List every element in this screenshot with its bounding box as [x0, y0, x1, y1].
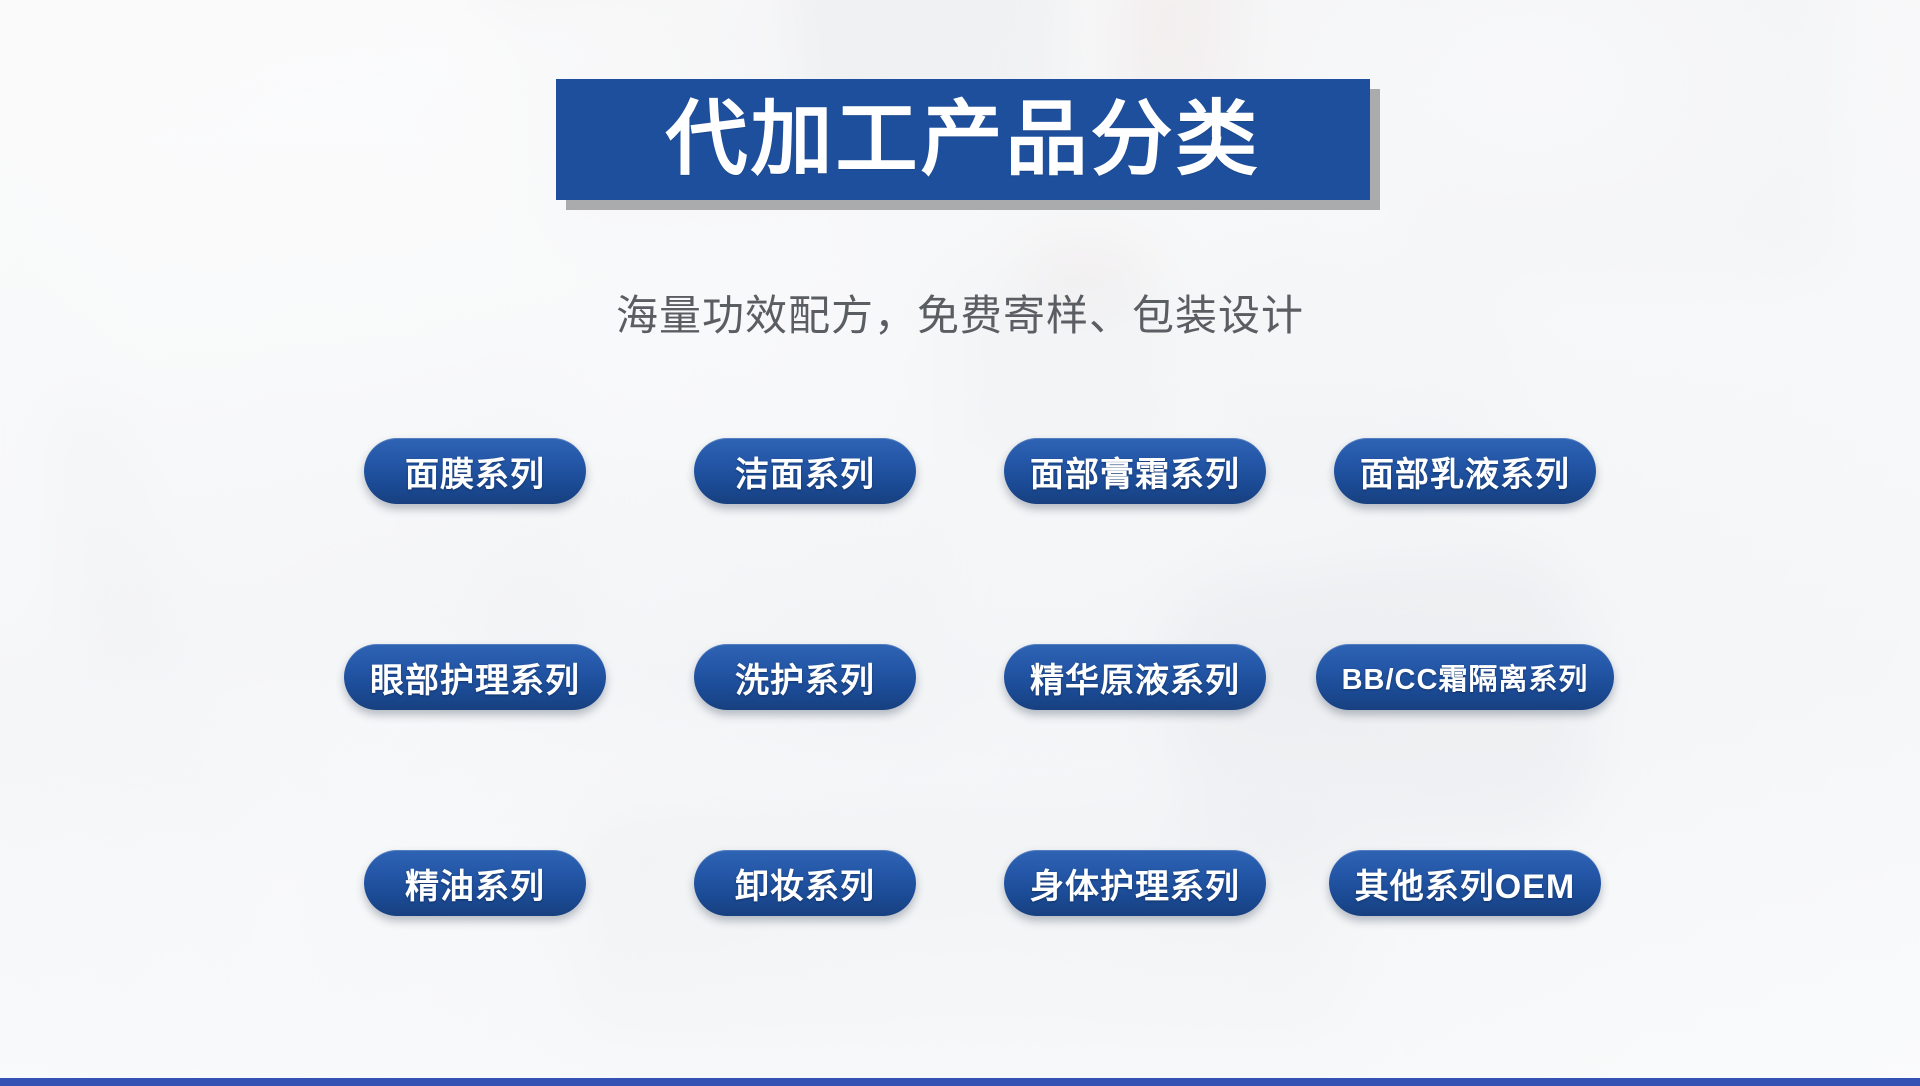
title-banner-box: 代加工产品分类 [556, 79, 1370, 200]
category-button-yanbuhuli[interactable]: 眼部护理系列 [344, 644, 606, 710]
page-title: 代加工产品分类 [665, 99, 1260, 181]
title-banner: 代加工产品分类 [556, 79, 1370, 200]
category-button-qitaoem[interactable]: 其他系列OEM [1329, 850, 1601, 916]
category-cell: 精油系列 [310, 850, 640, 916]
category-row-3: 精油系列 卸妆系列 身体护理系列 其他系列OEM [310, 840, 1630, 926]
category-cell: 其他系列OEM [1300, 850, 1630, 916]
category-button-shentihuli[interactable]: 身体护理系列 [1004, 850, 1266, 916]
bottom-accent-rule [0, 1078, 1920, 1086]
category-button-mianburuye[interactable]: 面部乳液系列 [1334, 438, 1596, 504]
category-cell: 面部膏霜系列 [970, 438, 1300, 504]
page-subtitle: 海量功效配方，免费寄样、包装设计 [0, 282, 1920, 343]
category-cell: BB/CC霜隔离系列 [1300, 644, 1630, 710]
category-cell: 卸妆系列 [640, 850, 970, 916]
promo-banner-page: 代加工产品分类 海量功效配方，免费寄样、包装设计 面膜系列 洁面系列 面部膏霜系… [0, 0, 1920, 1086]
category-cell: 洁面系列 [640, 438, 970, 504]
category-row-2: 眼部护理系列 洗护系列 精华原液系列 BB/CC霜隔离系列 [310, 634, 1630, 720]
category-cell: 面部乳液系列 [1300, 438, 1630, 504]
category-cell: 洗护系列 [640, 644, 970, 710]
category-button-jiemian[interactable]: 洁面系列 [694, 438, 916, 504]
category-cell: 精华原液系列 [970, 644, 1300, 710]
category-button-bbcc[interactable]: BB/CC霜隔离系列 [1316, 644, 1615, 710]
category-button-mianbugaoshuang[interactable]: 面部膏霜系列 [1004, 438, 1266, 504]
category-button-xihu[interactable]: 洗护系列 [694, 644, 916, 710]
category-row-1: 面膜系列 洁面系列 面部膏霜系列 面部乳液系列 [310, 428, 1630, 514]
category-cell: 面膜系列 [310, 438, 640, 504]
category-button-xiezhuang[interactable]: 卸妆系列 [694, 850, 916, 916]
category-cell: 眼部护理系列 [310, 644, 640, 710]
category-button-jingyou[interactable]: 精油系列 [364, 850, 586, 916]
category-grid: 面膜系列 洁面系列 面部膏霜系列 面部乳液系列 眼部护理系列 洗护系列 精华原液… [310, 428, 1630, 926]
category-cell: 身体护理系列 [970, 850, 1300, 916]
category-button-jinghuayuanye[interactable]: 精华原液系列 [1004, 644, 1266, 710]
category-button-mianmo[interactable]: 面膜系列 [364, 438, 586, 504]
